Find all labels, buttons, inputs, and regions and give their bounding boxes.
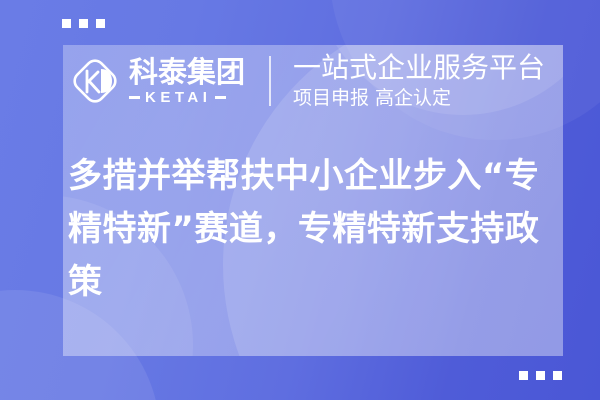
brand-logo[interactable]: 科泰集团 KETAI [68, 54, 245, 108]
brand-wordmark: 科泰集团 KETAI [129, 57, 245, 105]
promo-banner: 科泰集团 KETAI 一站式企业服务平台 项目申报 高企认定 多措并举帮扶中小企… [0, 0, 600, 400]
decor-square [79, 19, 88, 28]
ketai-diamond-kd-monogram-icon [68, 54, 122, 108]
brand-name-cn: 科泰集团 [129, 57, 245, 88]
brand-name-en-row: KETAI [129, 90, 245, 105]
header-divider [269, 56, 271, 106]
wordmark-rule-right [215, 96, 226, 99]
decor-square [96, 19, 105, 28]
decor-square [62, 19, 71, 28]
decor-square [553, 371, 562, 380]
decor-squares-bottom-right [519, 371, 562, 380]
decor-squares-top-left [62, 19, 105, 28]
banner-header: 科泰集团 KETAI 一站式企业服务平台 项目申报 高企认定 [63, 45, 563, 117]
decor-square [519, 371, 528, 380]
content-panel: 科泰集团 KETAI 一站式企业服务平台 项目申报 高企认定 多措并举帮扶中小企… [63, 45, 563, 356]
brand-name-en: KETAI [145, 90, 211, 105]
header-tagline: 一站式企业服务平台 项目申报 高企认定 [293, 52, 545, 109]
decor-square [536, 371, 545, 380]
wordmark-rule-left [129, 96, 140, 99]
tagline-secondary: 项目申报 高企认定 [293, 87, 545, 110]
tagline-primary: 一站式企业服务平台 [293, 52, 545, 83]
page-title: 多措并举帮扶中小企业步入“专精特新”赛道，专精特新支持政策 [68, 150, 560, 309]
